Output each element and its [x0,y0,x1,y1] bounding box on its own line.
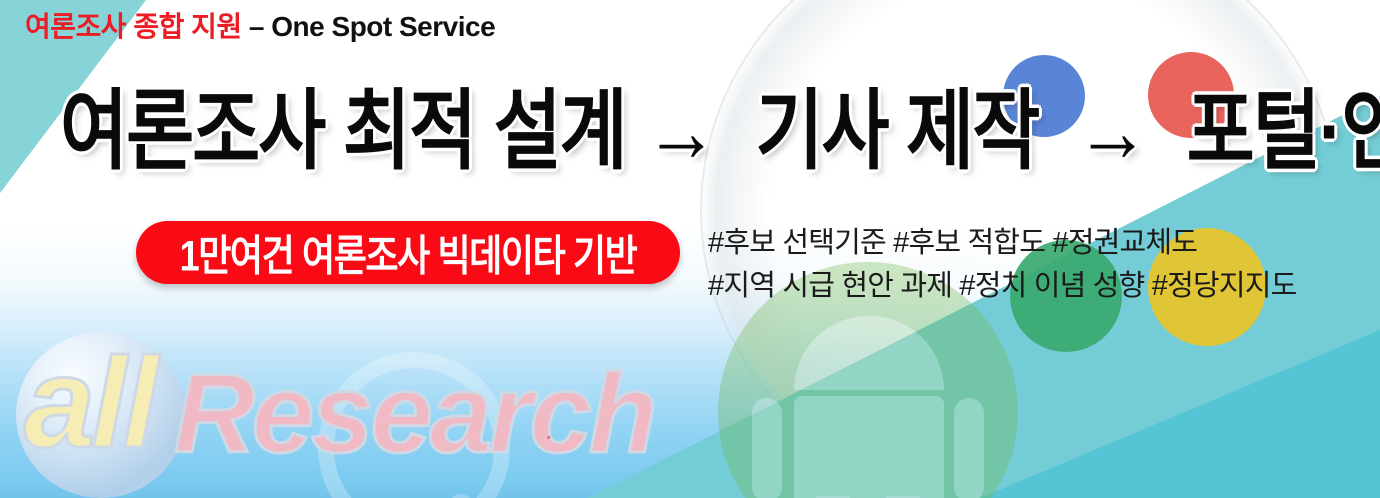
hashtag-list: #후보 선택기준 #후보 적합도 #정권교체도 #지역 시급 현안 과제 #정치… [708,222,1297,308]
arrow-right-icon-1: → [644,82,718,180]
headline-step-2: 기사 제작 [755,82,1038,180]
arrow-right-icon-2: → [1075,82,1149,180]
badge-label: 1만여건 여론조사 빅데이타 기반 [180,222,637,283]
logo-trademark-mark: . [546,422,552,445]
banner-content: 여론조사 종합 지원 – One Spot Service 여론조사 최적 설계… [0,0,1380,498]
headline-step-1: 여론조사 최적 설계 [60,82,626,180]
logo-word-all: all [24,340,154,468]
status-badge: 1만여건 여론조사 빅데이타 기반 [136,221,680,284]
hashtag-line-1: #후보 선택기준 #후보 적합도 #정권교체도 [708,222,1297,265]
logo-word-research: Research [174,358,654,470]
headline-step-3: 포털·언론사 보도 [1187,82,1380,180]
hashtag-line-2: #지역 시급 현안 과제 #정치 이념 성향 #정당지지도 [708,265,1297,308]
allresearch-logo[interactable]: all Research . [6,330,586,495]
eyebrow-tagline: 여론조사 종합 지원 – One Spot Service [25,10,495,44]
page-title: 여론조사 최적 설계 → 기사 제작 → 포털·언론사 보도 [60,83,1350,181]
eyebrow-english-text: One Spot Service [271,11,495,42]
promo-banner: 여론조사 종합 지원 – One Spot Service 여론조사 최적 설계… [0,0,1380,498]
eyebrow-korean-text: 여론조사 종합 지원 [25,11,242,42]
eyebrow-separator: – [242,11,272,42]
